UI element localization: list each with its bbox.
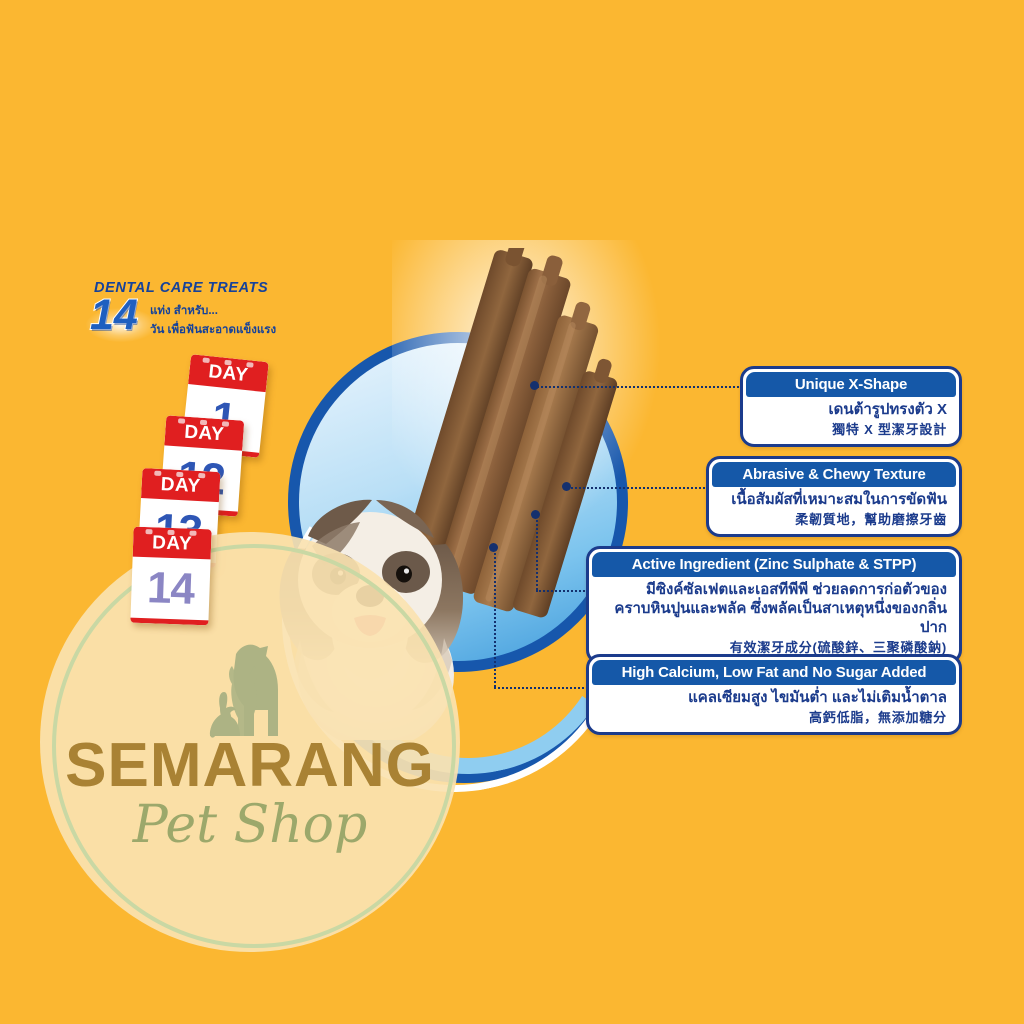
callout-chinese-text: 有效潔牙成分(硫酸鋅、三聚磷酸鈉) [589, 638, 959, 656]
watermark-brand-sub: Pet Shop [40, 795, 460, 855]
callout-chinese-text: 柔韌質地，幫助磨擦牙齒 [709, 510, 959, 528]
connector-dot-3 [489, 543, 498, 552]
badge-thai-line-1: แท่ง สำหรับ... [150, 302, 218, 320]
callout-thai-text: แคลเซียมสูง ไขมันต่ำ และไม่เติมน้ำตาล [589, 689, 959, 708]
callout-thai-text: เดนต้ารูปทรงตัว X [743, 401, 959, 420]
callout-chinese-text: 高鈣低脂，無添加糖分 [589, 708, 959, 726]
callout-title: Unique X-Shape [746, 372, 956, 397]
connector-line-2-vert [536, 515, 538, 590]
callout-unique-x-shape: Unique X-Shape เดนต้ารูปทรงตัว X 獨特 X 型潔… [740, 366, 962, 447]
callout-active-ingredient: Active Ingredient (Zinc Sulphate & STPP)… [586, 546, 962, 664]
callout-thai-text: เนื้อสัมผัสที่เหมาะสมในการขัดฟัน [709, 491, 959, 510]
callout-high-calcium: High Calcium, Low Fat and No Sugar Added… [586, 654, 962, 735]
badge-number: 14 [90, 294, 138, 337]
calendar-rings-icon [133, 529, 211, 538]
dental-care-badge: DENTAL CARE TREATS 14 แท่ง สำหรับ... วัน… [88, 280, 288, 350]
calendar-card-header: DAY [133, 527, 212, 560]
callout-thai-text-line-1: มีซิงค์ซัลเฟตและเอสทีพีพี ช่วยลดการก่อตั… [589, 581, 959, 600]
connector-dot-2 [531, 510, 540, 519]
connector-line-0 [534, 386, 742, 388]
connector-dot-0 [530, 381, 539, 390]
connector-dot-1 [562, 482, 571, 491]
connector-line-3-vert [494, 548, 496, 687]
calendar-card-header: DAY [164, 415, 244, 450]
callout-chinese-text: 獨特 X 型潔牙設計 [743, 420, 959, 438]
connector-line-1 [568, 487, 708, 489]
callout-thai-text-line-2: คราบหินปูนและพลัค ซึ่งพลัคเป็นสาเหตุหนึ่… [589, 600, 959, 638]
connector-line-2-horz [536, 590, 588, 592]
callout-title: Abrasive & Chewy Texture [712, 462, 956, 487]
badge-thai-line-2: วัน เพื่อฟันสะอาดแข็งแรง [150, 321, 276, 339]
connector-line-3-horz [494, 687, 588, 689]
calendar-card-header: DAY [141, 468, 220, 502]
callout-abrasive-chewy-texture: Abrasive & Chewy Texture เนื้อสัมผัสที่เ… [706, 456, 962, 537]
shih-tzu-dog-image [248, 440, 508, 740]
callout-title: Active Ingredient (Zinc Sulphate & STPP) [592, 552, 956, 577]
product-banner: DENTAL CARE TREATS 14 แท่ง สำหรับ... วัน… [0, 0, 1024, 1024]
calendar-card-day-14: DAY 14 [130, 527, 211, 626]
calendar-day-number: 14 [130, 557, 210, 622]
callout-title: High Calcium, Low Fat and No Sugar Added [592, 660, 956, 685]
